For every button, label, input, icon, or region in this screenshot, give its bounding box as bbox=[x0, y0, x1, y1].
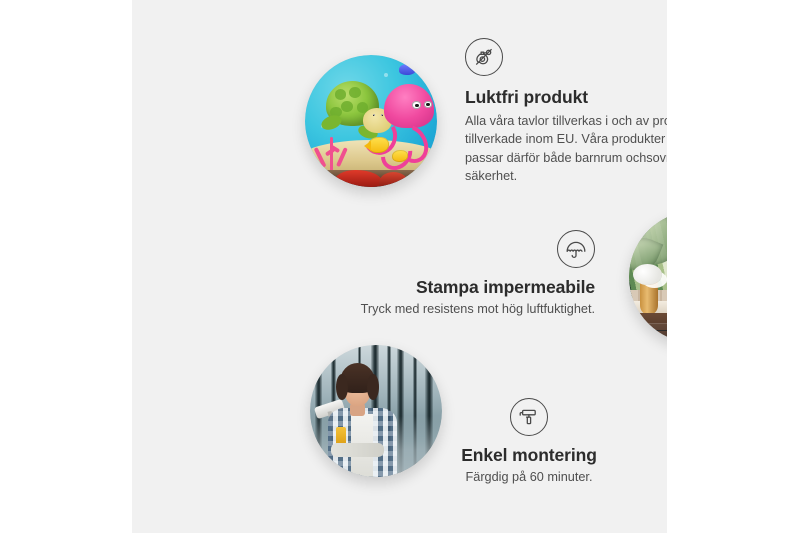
feature-body: Färgdig på 60 minuter. bbox=[429, 468, 629, 486]
infographic-canvas: Luktfri produkt Alla våra tavlor tillver… bbox=[0, 0, 800, 533]
umbrella-icon bbox=[557, 230, 595, 268]
feature-body: Alla våra tavlor tillverkas i och av pro… bbox=[465, 112, 667, 186]
no-fragrance-icon bbox=[465, 38, 503, 76]
feature-title: Luktfri produkt bbox=[465, 87, 667, 108]
feature-odourless: Luktfri produkt Alla våra tavlor tillver… bbox=[465, 38, 667, 186]
paint-roller-icon bbox=[510, 398, 548, 436]
feature-body: Tryck med resistens mot hög luftfuktighe… bbox=[335, 300, 595, 318]
content-panel: Luktfri produkt Alla våra tavlor tillver… bbox=[132, 0, 667, 533]
feature-title: Enkel montering bbox=[429, 445, 629, 466]
photo-underwater-kids-scene bbox=[305, 55, 437, 187]
feature-title: Stampa impermeabile bbox=[335, 277, 595, 298]
feature-assembly: Enkel montering Färgdig på 60 minuter. bbox=[429, 398, 629, 486]
photo-bathroom-tropical-wallpaper bbox=[629, 211, 667, 343]
photo-woman-paint-roller-forest bbox=[310, 345, 442, 477]
feature-waterproof: Stampa impermeabile Tryck med resistens … bbox=[335, 230, 595, 318]
